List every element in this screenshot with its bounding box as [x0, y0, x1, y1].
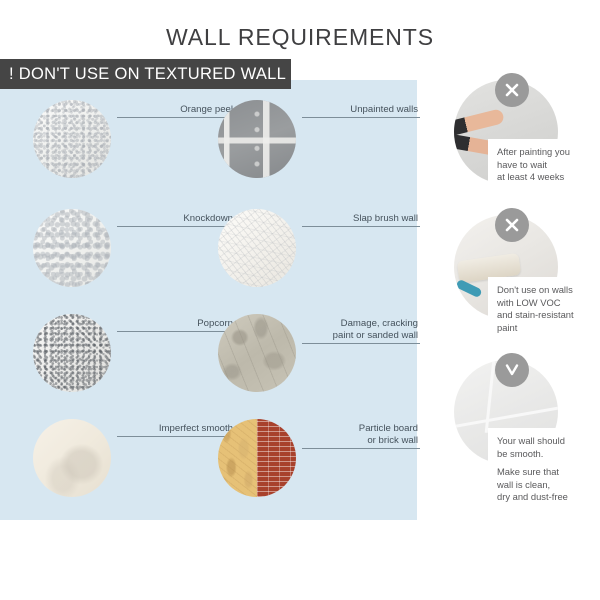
particle-board-brick-texture: [218, 419, 296, 497]
slap-brush-texture: [218, 209, 296, 287]
sample-label-wrap: Slap brush wall: [302, 213, 420, 227]
card-text-line: Don't use on walls with LOW VOC and stai…: [497, 284, 600, 334]
label-rule: [302, 343, 420, 344]
sample-particle-board-brick: Particle board or brick wall: [218, 419, 423, 497]
brick-lines: [257, 419, 296, 497]
sample-label-wrap: Particle board or brick wall: [302, 423, 420, 449]
knockdown-texture: [33, 209, 111, 287]
cross-icon: [495, 208, 529, 242]
sample-slap-brush-wall: Slap brush wall: [218, 209, 423, 287]
sample-knockdown: Knockdown: [33, 209, 238, 287]
osb-chips: [218, 419, 257, 497]
card-text-box: Don't use on walls with LOW VOC and stai…: [488, 277, 600, 342]
page-title: WALL REQUIREMENTS: [0, 24, 600, 51]
card-text-line: Your wall should be smooth.: [497, 435, 600, 460]
sample-damage-cracking: Damage, cracking paint or sanded wall: [218, 314, 423, 392]
sample-label: Slap brush wall: [302, 213, 420, 225]
unpainted-drywall-texture: [218, 100, 296, 178]
orange-peel-texture: [33, 100, 111, 178]
infographic-root: WALL REQUIREMENTS ! DON'T USE ON TEXTURE…: [0, 0, 600, 600]
card-text-box: After painting you have to wait at least…: [488, 139, 600, 192]
imperfect-smooth-texture: [33, 419, 111, 497]
card-text-line: After painting you have to wait at least…: [497, 146, 600, 184]
warning-banner: ! DON'T USE ON TEXTURED WALL: [0, 59, 291, 89]
sample-orange-peel: Orange peel: [33, 100, 238, 178]
label-rule: [302, 117, 420, 118]
label-rule: [302, 226, 420, 227]
label-rule: [302, 448, 420, 449]
sample-unpainted-walls: Unpainted walls: [218, 100, 423, 178]
damaged-wall-texture: [218, 314, 296, 392]
card-text-line: Make sure that wall is clean, dry and du…: [497, 466, 600, 504]
sample-label: Unpainted walls: [302, 104, 420, 116]
sample-label: Particle board or brick wall: [302, 423, 420, 447]
popcorn-texture: [33, 314, 111, 392]
card-text-box: Your wall should be smooth. Make sure th…: [488, 428, 600, 512]
card-low-voc-paint: Don't use on walls with LOW VOC and stai…: [440, 215, 600, 345]
card-wall-should-be-smooth: Your wall should be smooth. Make sure th…: [440, 360, 600, 510]
sample-popcorn: Popcorn: [33, 314, 238, 392]
warning-banner-label: ! DON'T USE ON TEXTURED WALL: [0, 65, 286, 84]
check-icon: [495, 353, 529, 387]
sample-imperfect-smooth: Imperfect smooth: [33, 419, 238, 497]
sample-label: Damage, cracking paint or sanded wall: [302, 318, 420, 342]
sample-label-wrap: Damage, cracking paint or sanded wall: [302, 318, 420, 344]
card-wait-4-weeks: After painting you have to wait at least…: [440, 80, 600, 195]
sample-label-wrap: Unpainted walls: [302, 104, 420, 118]
cross-icon: [495, 73, 529, 107]
